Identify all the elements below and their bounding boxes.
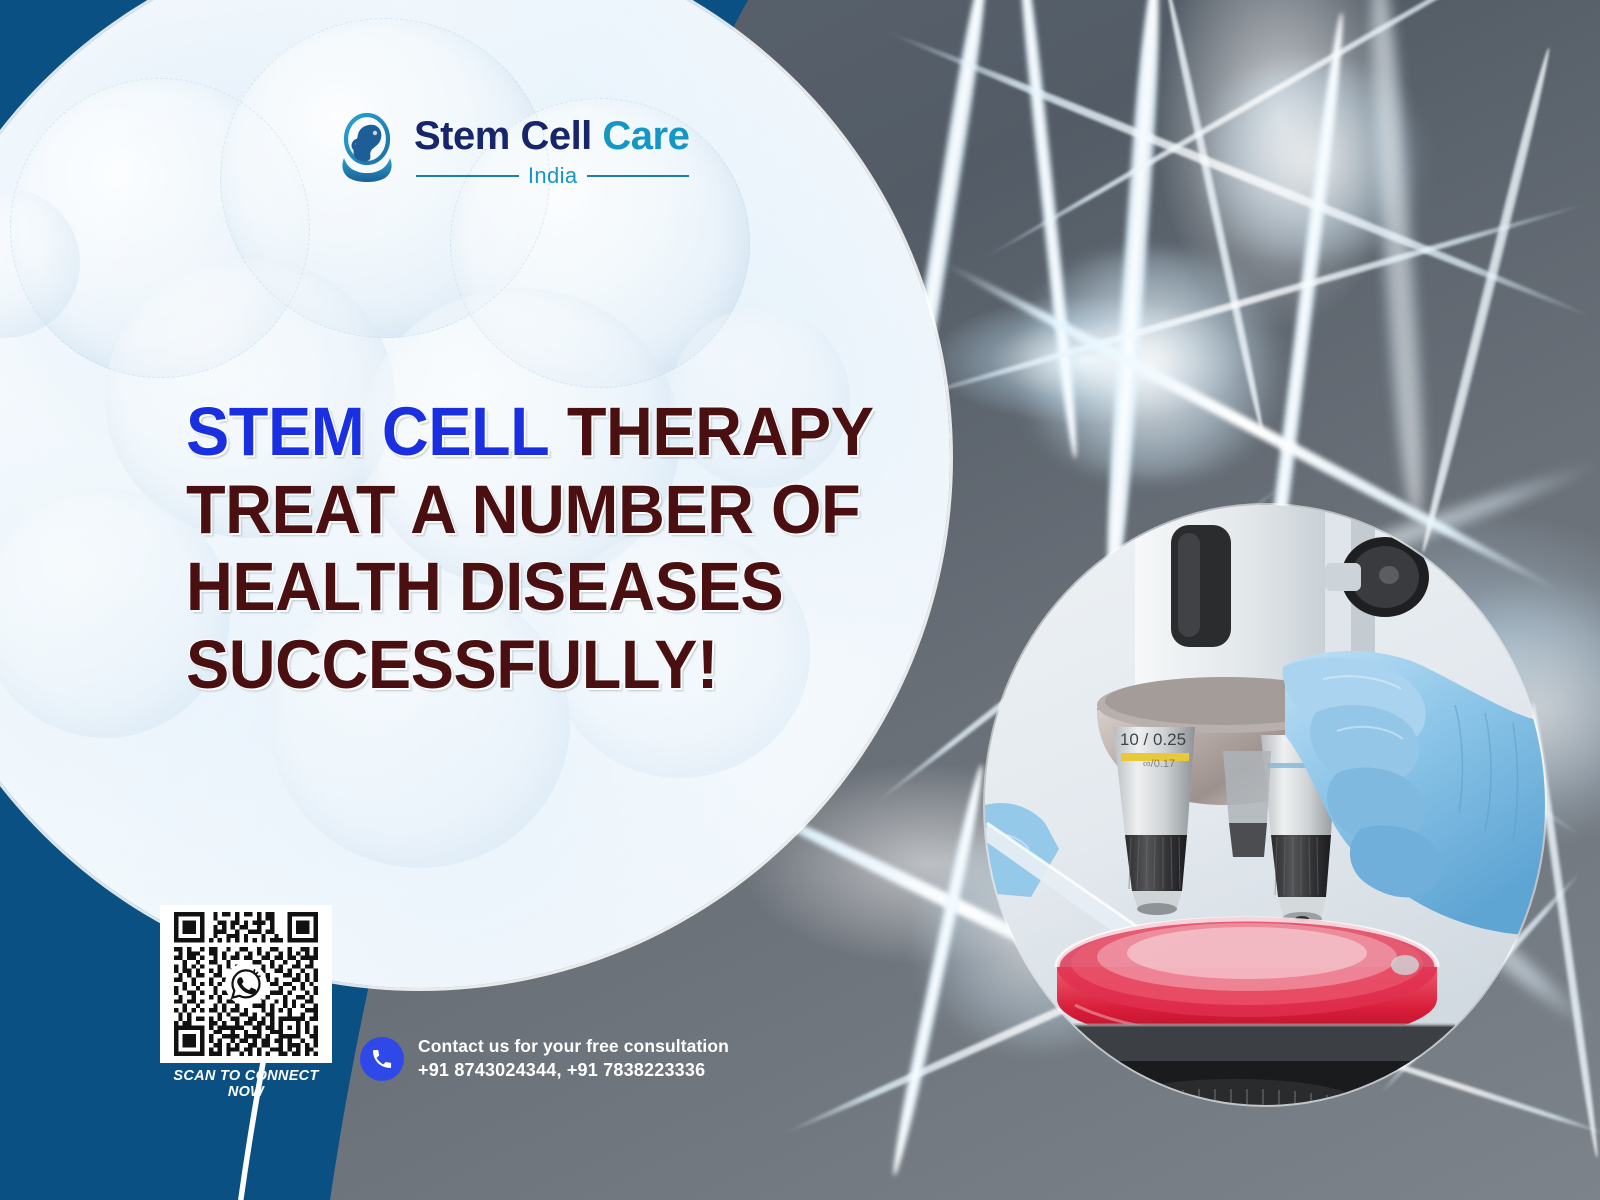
headline-line-3: HEALTH DISEASES	[186, 553, 863, 621]
poster-canvas: Stem Cell Care India STEM CELL THERAPY T…	[0, 0, 1600, 1200]
svg-text:10 / 0.25: 10 / 0.25	[1120, 730, 1186, 749]
headline-line-1: STEM CELL THERAPY	[186, 398, 863, 466]
svg-text:∞/0.17: ∞/0.17	[1143, 758, 1175, 770]
logo-rule-right	[587, 175, 690, 177]
logo-word-stem: Stem	[414, 114, 510, 158]
embryo-in-hands-icon	[334, 112, 400, 186]
logo-wordmark: Stem Cell Care India	[414, 112, 689, 189]
headline-therapy: THERAPY	[567, 393, 874, 470]
contact-tagline: Contact us for your free consultation	[418, 1036, 729, 1058]
brand-logo[interactable]: Stem Cell Care India	[334, 112, 689, 189]
qr-block[interactable]: SCAN TO CONNECT NOW	[160, 905, 332, 1100]
qr-caption: SCAN TO CONNECT NOW	[160, 1068, 332, 1100]
microscope-inset-image: 10 / 0.25 ∞/0.17	[985, 505, 1545, 1105]
contact-block[interactable]: Contact us for your free consultation +9…	[360, 1036, 729, 1082]
whatsapp-icon	[225, 963, 267, 1005]
contact-text: Contact us for your free consultation +9…	[418, 1036, 729, 1082]
logo-rule-left	[416, 175, 519, 177]
headline-stem-cell: STEM CELL	[186, 393, 549, 470]
phone-icon[interactable]	[360, 1037, 404, 1081]
headline-line-4: SUCCESSFULLY!	[186, 631, 863, 699]
headline-block: STEM CELL THERAPY TREAT A NUMBER OF HEAL…	[186, 398, 906, 708]
logo-word-cell: Cell	[520, 114, 591, 158]
contact-phone-numbers[interactable]: +91 8743024344, +91 7838223336	[418, 1059, 729, 1082]
logo-word-care: Care	[602, 114, 689, 158]
logo-word-india: India	[528, 163, 578, 189]
headline-line-2: TREAT A NUMBER OF	[186, 476, 863, 544]
qr-code[interactable]	[160, 905, 332, 1063]
